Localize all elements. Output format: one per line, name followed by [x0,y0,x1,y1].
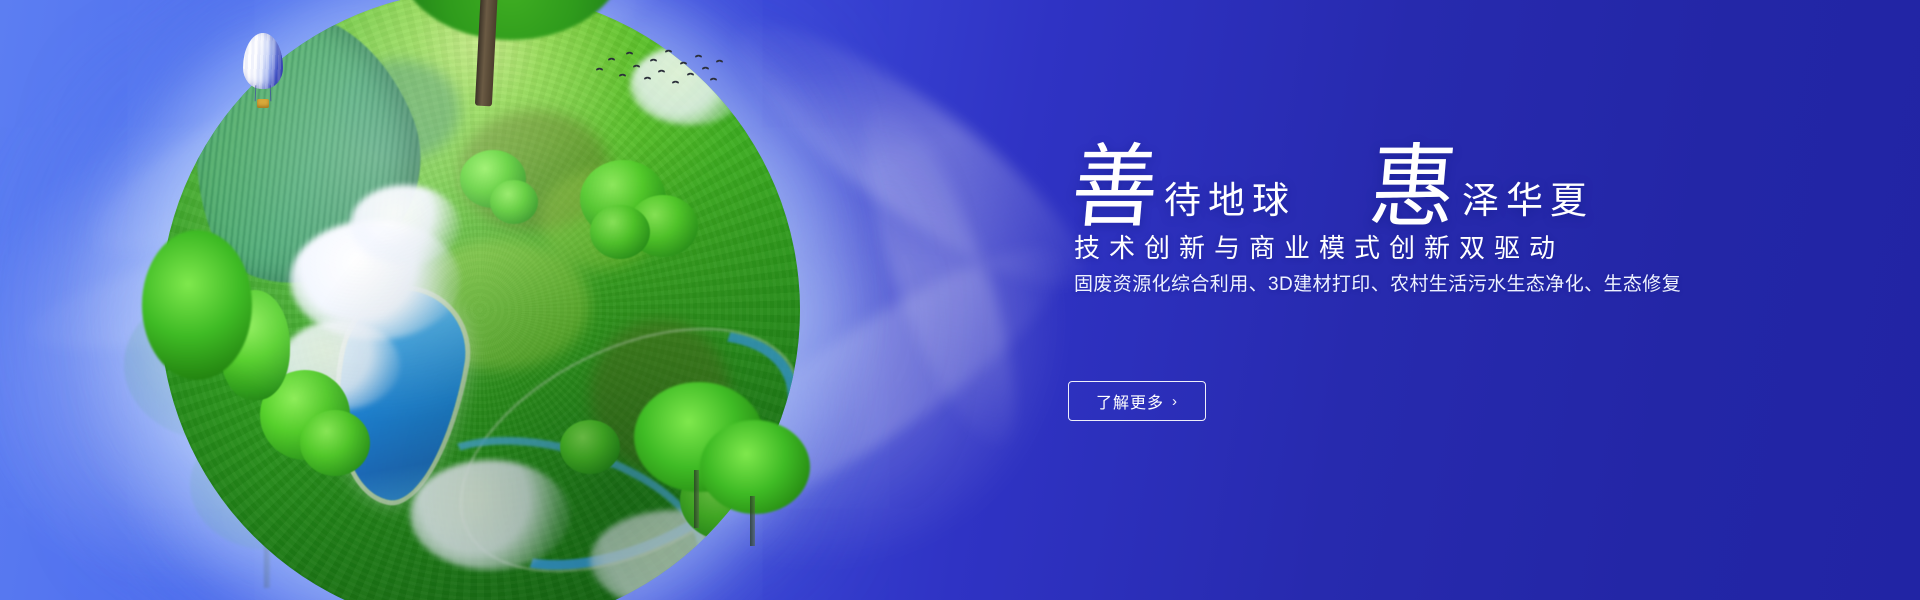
balloon-basket [257,99,269,108]
bush [300,410,370,476]
headline-phrase-2: 惠 泽华夏 [1370,149,1594,228]
description-line: 固废资源化综合利用、3D建材打印、农村生活污水生态净化、生态修复 [1074,269,1681,296]
headline: 善 待地球 惠 泽华夏 [1072,136,1594,228]
bush [590,205,650,259]
terrain-patch [540,170,660,270]
lake [321,281,476,509]
headline-rest-1: 待地球 [1164,182,1296,228]
edge-tree [700,420,810,550]
terrain-patch [410,240,590,370]
bush [490,180,538,224]
terrain-patch [460,110,610,230]
hero-banner: 善 待地球 惠 泽华夏 技术创新与商业模式创新双驱动 固废资源化综合利用、3D建… [0,0,1920,600]
terrain-patch [340,60,460,160]
hot-air-balloon [243,33,283,115]
learn-more-label: 了解更多 [1096,389,1164,413]
bush [628,195,698,257]
learn-more-button[interactable]: 了解更多 › [1068,381,1206,421]
bush [580,160,666,238]
subheadline: 技术创新与商业模式创新双驱动 [1074,228,1564,265]
chevron-right-icon: › [1172,394,1178,409]
bush [260,370,350,460]
balloon-envelope [243,33,283,89]
headline-lead-char-1: 善 [1068,147,1161,231]
bush [560,420,620,474]
cloud-puff [410,460,570,570]
copy-block: 善 待地球 惠 泽华夏 技术创新与商业模式创新双驱动 固废资源化综合利用、3D建… [1058,0,1818,600]
cloud-puff [290,220,460,340]
bird-flock [592,48,722,94]
bush [460,150,526,208]
headline-lead-char-2: 惠 [1366,147,1459,231]
edge-tree [142,230,252,400]
cloud-puff [280,320,400,410]
headline-phrase-1: 善 待地球 [1072,149,1296,228]
headline-rest-2: 泽华夏 [1462,182,1594,228]
cloud-puff [350,185,460,265]
